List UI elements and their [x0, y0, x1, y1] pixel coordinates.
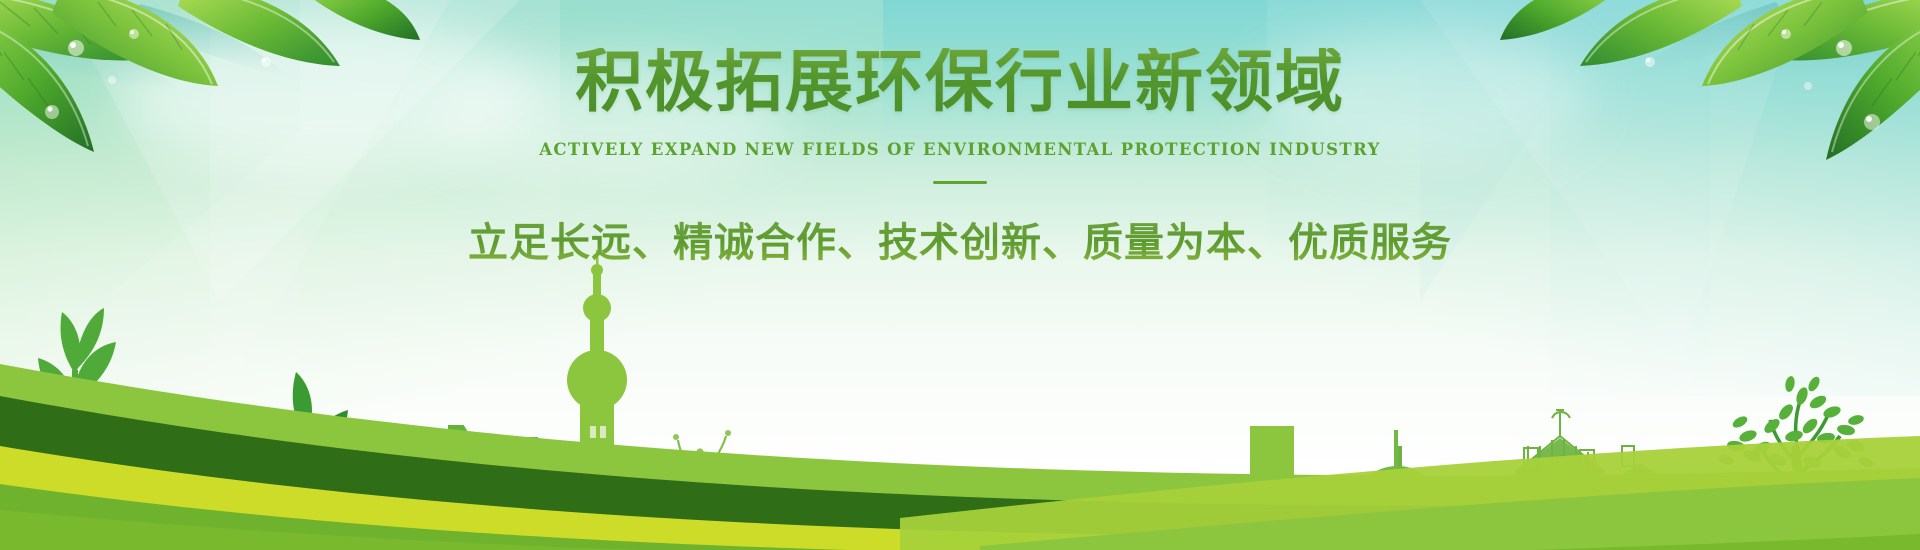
subtitle-english: ACTIVELY EXPAND NEW FIELDS OF ENVIRONMEN… — [0, 140, 1920, 159]
eco-banner: 积极拓展环保行业新领域 ACTIVELY EXPAND NEW FIELDS O… — [0, 0, 1920, 550]
wave-bands — [0, 320, 1920, 550]
slogan-text: 立足长远、精诚合作、技术创新、质量为本、优质服务 — [0, 210, 1920, 268]
headline-block: 积极拓展环保行业新领域 ACTIVELY EXPAND NEW FIELDS O… — [0, 48, 1920, 268]
title-divider — [933, 181, 987, 184]
page-title: 积极拓展环保行业新领域 — [0, 48, 1920, 116]
